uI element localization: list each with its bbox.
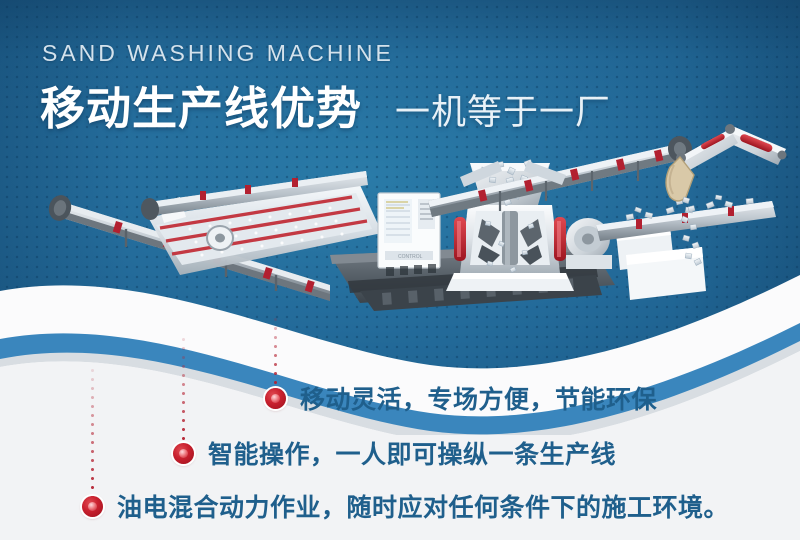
bullet-label-2: 智能操作，一人即可操纵一条生产线	[208, 435, 616, 471]
bullet-marker-icon	[265, 388, 286, 409]
list-item: 智能操作，一人即可操纵一条生产线	[173, 435, 616, 471]
banner-root: CONTROL	[0, 0, 800, 540]
connector-line-3	[91, 366, 94, 498]
connector-line-2	[182, 335, 185, 445]
bullet-label-3: 油电混合动力作业，随时应对任何条件下的施工环境。	[117, 488, 729, 524]
bullet-label-1: 移动灵活，专场方便，节能环保	[300, 380, 657, 416]
list-item: 油电混合动力作业，随时应对任何条件下的施工环境。	[82, 488, 729, 524]
bullet-list: 移动灵活，专场方便，节能环保 智能操作，一人即可操纵一条生产线 油电混合动力作业…	[0, 0, 800, 540]
bullet-marker-icon	[173, 443, 194, 464]
connector-line-1	[274, 315, 277, 390]
bullet-marker-icon	[82, 496, 103, 517]
list-item: 移动灵活，专场方便，节能环保	[265, 380, 657, 416]
